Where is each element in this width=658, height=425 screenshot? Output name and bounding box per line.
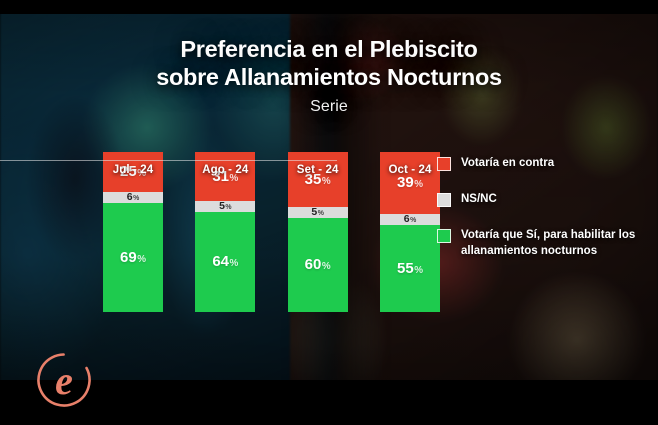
bar-segment-value: 5% [311,207,324,218]
bar-segment-nsnc[interactable]: 5% [288,207,348,218]
bar-column[interactable]: 31%5%64% [195,152,255,312]
title-line-2: sobre Allanamientos Nocturnos [0,64,658,92]
chart-subtitle: Serie [0,98,658,116]
bar-group: 25%6%69%31%5%64%35%5%60%39%6%55% [103,152,440,312]
bar-segment-value: 55% [397,261,423,276]
legend-swatch-against [437,157,451,171]
x-axis-tick-1: Jul - 24 [103,164,163,176]
bar-column[interactable]: 25%6%69% [103,152,163,312]
bar-segment-favor[interactable]: 64% [195,212,255,312]
bar-segment-favor[interactable]: 55% [380,225,440,312]
bar-column[interactable]: 35%5%60% [288,152,348,312]
bar-segment-against[interactable]: 39% [380,152,440,214]
stacked-bar-chart: 25%6%69%31%5%64%35%5%60%39%6%55% [103,152,440,312]
title-line-1: Preferencia en el Plebiscito [0,36,658,64]
bar-segment-value: 6% [404,214,417,225]
x-axis-tick-labels: Jul - 24Ago - 24Set - 24Oct - 24 [103,164,440,176]
legend-label-against: Votaría en contra [461,156,554,172]
svg-text:e: e [55,358,73,403]
bar-segment-nsnc[interactable]: 6% [380,214,440,225]
legend-item-favor[interactable]: Votaría que Sí, para habilitar los allan… [437,228,647,260]
bar-segment-value: 69% [120,250,146,265]
legend-label-favor: Votaría que Sí, para habilitar los allan… [461,228,647,260]
bar-segment-value: 5% [219,201,232,212]
el-observador-logo: e [28,346,100,414]
bar-segment-value: 6% [127,192,140,203]
bar-segment-favor[interactable]: 69% [103,203,163,312]
legend-item-nsnc[interactable]: NS/NC [437,192,647,208]
bar-segment-value: 60% [305,257,331,272]
bar-segment-nsnc[interactable]: 6% [103,192,163,203]
chart-legend: Votaría en contraNS/NCVotaría que Sí, pa… [437,156,647,259]
x-axis-baseline [0,160,337,161]
legend-item-against[interactable]: Votaría en contra [437,156,647,172]
bar-segment-value: 64% [212,254,238,269]
title-block: Preferencia en el Plebiscito sobre Allan… [0,36,658,116]
bar-segment-value: 39% [397,175,423,190]
bar-column[interactable]: 39%6%55% [380,152,440,312]
x-axis-tick-3: Set - 24 [288,164,348,176]
x-axis-tick-2: Ago - 24 [195,164,255,176]
bar-segment-nsnc[interactable]: 5% [195,201,255,212]
letterbox-top-bar [0,0,658,14]
x-axis-tick-4: Oct - 24 [380,164,440,176]
legend-swatch-nsnc [437,193,451,207]
legend-swatch-favor [437,229,451,243]
bar-segment-favor[interactable]: 60% [288,218,348,312]
infographic-chart-screenshot: Preferencia en el Plebiscito sobre Allan… [0,0,658,425]
legend-label-nsnc: NS/NC [461,192,497,208]
